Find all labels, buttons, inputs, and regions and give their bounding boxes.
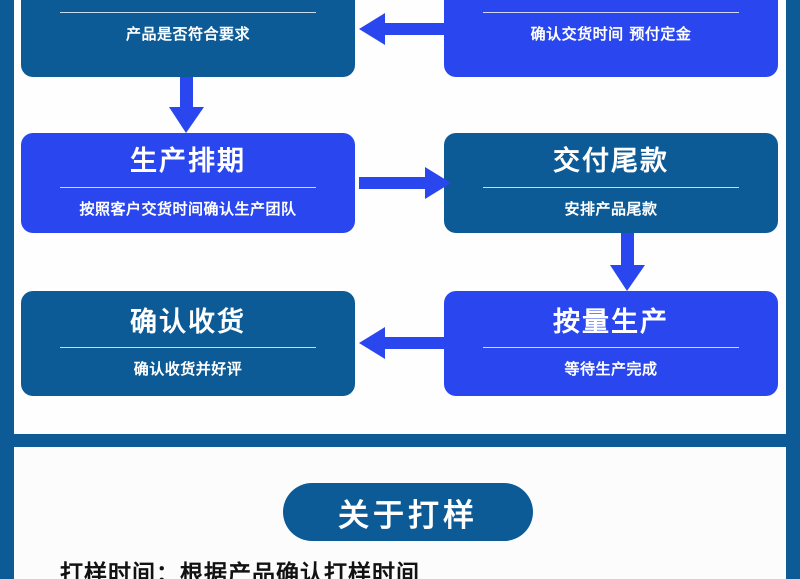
step-subtitle: 产品是否符合要求 — [39, 23, 337, 44]
step-divider — [483, 187, 739, 188]
frame-section-divider — [0, 434, 800, 447]
step-divider — [60, 347, 316, 348]
about-heading-pill: 关于打样 — [283, 483, 533, 541]
arrow-stem — [180, 77, 193, 107]
step-card-bulk-production[interactable]: 按量生产 等待生产完成 — [444, 291, 778, 396]
step-subtitle: 安排产品尾款 — [462, 198, 760, 219]
arrow-stem — [383, 23, 451, 35]
step-subtitle: 确认收货并好评 — [39, 358, 337, 379]
frame-left-rail — [0, 0, 14, 579]
arrow-head — [610, 265, 645, 291]
about-line-sampling-time: 打样时间：根据产品确认打样时间 — [60, 554, 420, 579]
step-card-production-schedule[interactable]: 生产排期 按照客户交货时间确认生产团队 — [21, 133, 355, 233]
about-sampling-section: 关于打样 打样时间：根据产品确认打样时间 — [14, 447, 786, 579]
arrow-stem — [383, 337, 451, 349]
arrow-left-icon — [359, 13, 451, 45]
step-subtitle: 确认交货时间 预付定金 — [462, 23, 760, 44]
arrow-head — [359, 327, 385, 359]
arrow-head — [359, 13, 385, 45]
step-subtitle: 等待生产完成 — [462, 358, 760, 379]
frame-right-rail — [786, 0, 800, 579]
step-divider — [60, 12, 316, 13]
step-subtitle: 按照客户交货时间确认生产团队 — [39, 198, 337, 219]
step-title: 确认收货 — [39, 308, 337, 338]
arrow-stem — [621, 233, 634, 265]
arrow-stem — [359, 177, 427, 189]
step-title: 按量生产 — [462, 308, 760, 338]
page-root: 确认样品 产品是否符合要求 确认定制 确认交货时间 预付定金 生产排期 按照客户… — [0, 0, 800, 579]
step-card-final-payment[interactable]: 交付尾款 安排产品尾款 — [444, 133, 778, 233]
arrow-right-icon — [359, 167, 451, 199]
step-divider — [483, 347, 739, 348]
arrow-left-icon — [359, 327, 451, 359]
arrow-head — [425, 167, 451, 199]
step-card-confirm-sample[interactable]: 确认样品 产品是否符合要求 — [21, 0, 355, 77]
step-title: 确认定制 — [462, 0, 760, 3]
arrow-down-icon — [610, 233, 645, 291]
arrow-head — [169, 107, 204, 133]
step-title: 交付尾款 — [462, 147, 760, 177]
arrow-down-icon — [169, 77, 204, 133]
step-divider — [60, 187, 316, 188]
step-title: 确认样品 — [39, 0, 337, 3]
process-flow-section: 确认样品 产品是否符合要求 确认定制 确认交货时间 预付定金 生产排期 按照客户… — [14, 0, 786, 434]
step-divider — [483, 12, 739, 13]
step-title: 生产排期 — [39, 147, 337, 177]
step-card-confirm-custom[interactable]: 确认定制 确认交货时间 预付定金 — [444, 0, 778, 77]
step-card-confirm-receipt[interactable]: 确认收货 确认收货并好评 — [21, 291, 355, 396]
